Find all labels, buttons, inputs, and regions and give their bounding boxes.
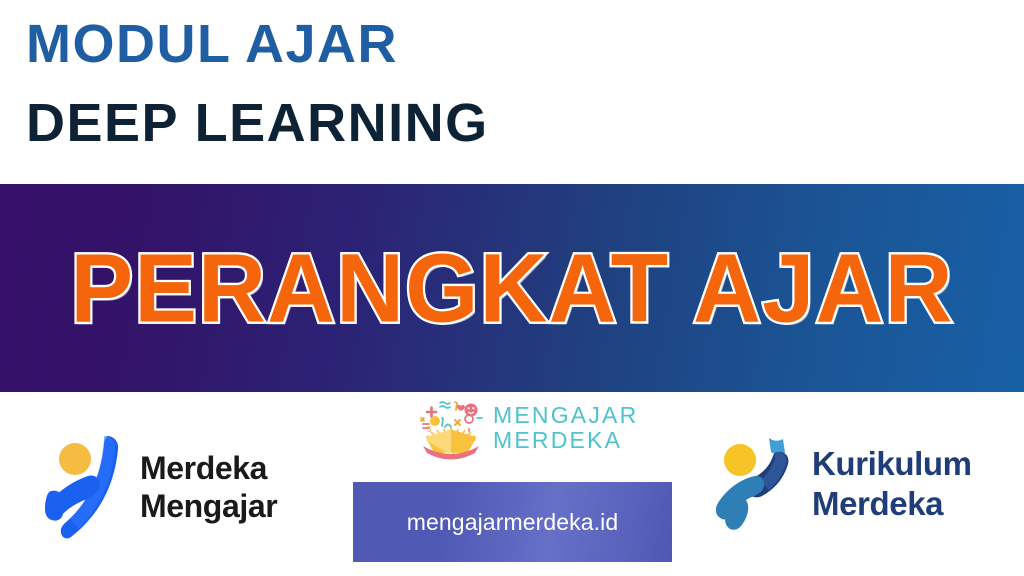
kurikulum-merdeka-wordmark: Kurikulum Merdeka [812,444,972,524]
merdeka-mengajar-line2: Mengajar [140,487,277,525]
logo-merdeka-mengajar: Merdeka Mengajar [44,434,277,540]
kurikulum-merdeka-figure-icon [716,432,802,536]
mengajar-merdeka-wordmark: MENGAJAR MERDEKA [493,403,638,453]
page-title-line2: DEEP LEARNING [26,92,489,154]
mengajar-merdeka-line2: MERDEKA [493,428,638,453]
logo-strip: Merdeka Mengajar [0,392,1024,576]
banner-headline: PERANGKAT AJAR [0,184,1024,392]
header-block: MODUL AJAR DEEP LEARNING [0,0,1024,184]
kurikulum-merdeka-line2: Merdeka [812,484,972,524]
website-url-plate[interactable]: mengajarmerdeka.id [353,482,672,562]
website-url-text: mengajarmerdeka.id [407,509,618,536]
logo-kurikulum-merdeka: Kurikulum Merdeka [716,432,972,536]
kurikulum-merdeka-line1: Kurikulum [812,444,972,484]
merdeka-mengajar-figure-icon [44,434,126,540]
merdeka-mengajar-wordmark: Merdeka Mengajar [140,449,277,525]
merdeka-mengajar-line1: Merdeka [140,449,277,487]
logo-mengajar-merdeka: 5 MENGAJAR MERDEKA [415,396,638,460]
perangkat-ajar-banner: PERANGKAT AJAR [0,184,1024,392]
page-title-line1: MODUL AJAR [26,13,398,75]
open-book-icon: 5 [415,396,487,460]
mengajar-merdeka-line1: MENGAJAR [493,403,638,428]
